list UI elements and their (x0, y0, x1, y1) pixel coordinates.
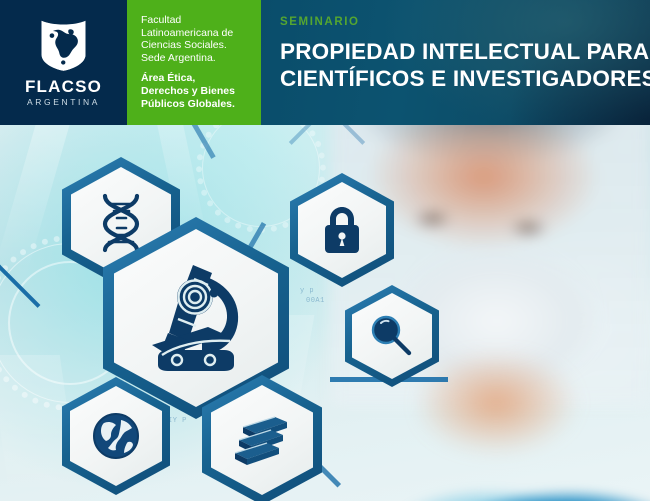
bg-text-fragment: 00A1 (306, 297, 325, 306)
event-title-panel: SEMINARIO PROPIEDAD INTELECTUAL PARA CIE… (261, 0, 650, 125)
event-title-line-1: PROPIEDAD INTELECTUAL PARA (280, 38, 650, 65)
institution-panel: Facultad Latinoamericana de Ciencias Soc… (127, 0, 261, 125)
area-line-2: Derechos y Bienes (141, 85, 235, 97)
event-title: PROPIEDAD INTELECTUAL PARA CIENTÍFICOS E… (280, 38, 650, 92)
hexagon-padlock[interactable] (290, 173, 394, 287)
banner-stage: soda IY P y p 00A1 (0, 125, 650, 501)
brand-country: ARGENTINA (27, 98, 100, 107)
event-kicker: SEMINARIO (280, 17, 650, 29)
bg-text-fragment: y p (300, 287, 314, 296)
hexagon-magnifier[interactable] (345, 285, 439, 387)
lock-icon (290, 173, 394, 287)
magnifier-icon (345, 285, 439, 387)
books-icon (202, 375, 322, 501)
seminar-banner: FLACSO ARGENTINA Facultad Latinoamerican… (0, 0, 650, 501)
institution-line-4: Sede Argentina. (141, 52, 216, 64)
hexagon-globe[interactable] (62, 377, 170, 495)
event-title-line-2: CIENTÍFICOS E INVESTIGADORES (280, 65, 650, 92)
gloved-hand-photo (330, 475, 650, 501)
institution-line-2: Latinoamericana de (141, 27, 233, 39)
flacso-brand-panel: FLACSO ARGENTINA (0, 0, 127, 125)
area-line-1: Área Ética, (141, 72, 195, 84)
banner-header: FLACSO ARGENTINA Facultad Latinoamerican… (0, 0, 650, 125)
hexagon-books[interactable] (202, 375, 322, 501)
scientist-neck-photo (420, 355, 610, 475)
institution-line-1: Facultad (141, 14, 181, 26)
flacso-shield-latin-america-map-icon (39, 19, 89, 71)
institution-line-3: Ciencias Sociales. (141, 39, 227, 51)
area-line-3: Públicos Globales. (141, 98, 235, 110)
globe-icon (62, 377, 170, 495)
brand-name: FLACSO (25, 78, 102, 95)
